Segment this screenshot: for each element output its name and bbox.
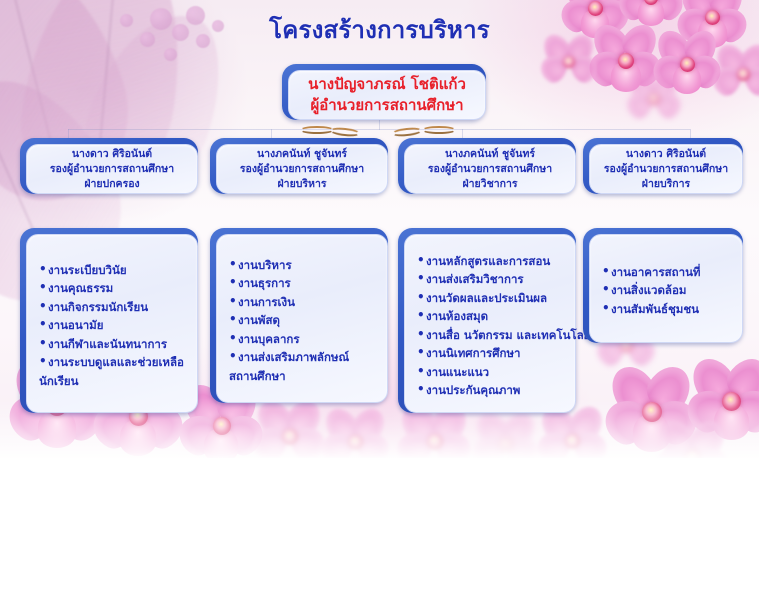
deputy-card-1[interactable]: นางดาว ศิริอนันต์ รองผู้อำนวยการสถานศึกษ…: [20, 138, 198, 194]
card-face: งานอาคารสถานที่ งานสิ่งแวดล้อม งานสัมพัน…: [589, 234, 743, 343]
card-face: งานบริหาร งานธุรการ งานการเงิน งานพัสดุ …: [216, 234, 388, 403]
deputy-department: ฝ่ายบริหาร: [217, 177, 387, 192]
list-item: งานอาคารสถานที่: [602, 263, 732, 282]
list-item: งานสัมพันธ์ชุมชน: [602, 300, 732, 319]
list-item: งานบุคลากร: [229, 330, 377, 349]
list-item: งานธุรการ: [229, 274, 377, 293]
duty-card-1[interactable]: งานระเบียบวินัย งานคุณธรรม งานกิจกรรมนัก…: [20, 228, 198, 413]
list-item-continuation: สถานศึกษา: [229, 367, 377, 386]
card-face: นางดาว ศิริอนันต์ รองผู้อำนวยการสถานศึกษ…: [26, 144, 198, 194]
orchid-flower-icon: [626, 72, 682, 128]
deputy-name: นางดาว ศิริอนันต์: [27, 147, 197, 162]
list-item: งานพัสดุ: [229, 311, 377, 330]
deputy-card-2[interactable]: นางภคนันท์ ชูจันทร์ รองผู้อำนวยการสถานศึ…: [210, 138, 388, 194]
list-item: งานนิเทศการศึกษา: [417, 344, 565, 363]
list-item: งานส่งเสริมภาพลักษณ์: [229, 348, 377, 367]
card-face: นางภคนันท์ ชูจันทร์ รองผู้อำนวยการสถานศึ…: [216, 144, 388, 194]
director-position: ผู้อำนวยการสถานศึกษา: [310, 95, 463, 116]
list-item: งานการเงิน: [229, 293, 377, 312]
duty-card-4[interactable]: งานอาคารสถานที่ งานสิ่งแวดล้อม งานสัมพัน…: [583, 228, 743, 343]
card-face: นางภคนันท์ ชูจันทร์ รองผู้อำนวยการสถานศึ…: [404, 144, 576, 194]
list-item: งานห้องสมุด: [417, 307, 565, 326]
list-item: งานส่งเสริมวิชาการ: [417, 270, 565, 289]
list-item-continuation: นักเรียน: [39, 372, 187, 391]
list-item: งานกิจกรรมนักเรียน: [39, 298, 187, 317]
deputy-department: ฝ่ายบริการ: [590, 177, 742, 192]
director-card[interactable]: นางปัญจาภรณ์ โชติแก้ว ผู้อำนวยการสถานศึก…: [282, 64, 486, 120]
deputy-name: นางดาว ศิริอนันต์: [590, 147, 742, 162]
deputy-position: รองผู้อำนวยการสถานศึกษา: [217, 162, 387, 177]
duty-card-2[interactable]: งานบริหาร งานธุรการ งานการเงิน งานพัสดุ …: [210, 228, 388, 403]
card-face: งานระเบียบวินัย งานคุณธรรม งานกิจกรรมนัก…: [26, 234, 198, 413]
list-item: งานคุณธรรม: [39, 279, 187, 298]
card-face: นางดาว ศิริอนันต์ รองผู้อำนวยการสถานศึกษ…: [589, 144, 743, 194]
list-item: งานแนะแนว: [417, 363, 565, 382]
deputy-position: รองผู้อำนวยการสถานศึกษา: [27, 162, 197, 177]
duty-card-3[interactable]: งานหลักสูตรและการสอน งานส่งเสริมวิชาการ …: [398, 228, 576, 413]
list-item: งานอนามัย: [39, 316, 187, 335]
list-item: งานวัดผลและประเมินผล: [417, 289, 565, 308]
deputy-card-3[interactable]: นางภคนันท์ ชูจันทร์ รองผู้อำนวยการสถานศึ…: [398, 138, 576, 194]
deputy-card-4[interactable]: นางดาว ศิริอนันต์ รองผู้อำนวยการสถานศึกษ…: [583, 138, 743, 194]
deputy-position: รองผู้อำนวยการสถานศึกษา: [590, 162, 742, 177]
deputy-name: นางภคนันท์ ชูจันทร์: [217, 147, 387, 162]
list-item: งานบริหาร: [229, 256, 377, 275]
list-item: งานสื่อ นวัตกรรม และเทคโนโลยี: [417, 326, 565, 345]
card-face: นางปัญจาภรณ์ โชติแก้ว ผู้อำนวยการสถานศึก…: [288, 70, 486, 120]
page-title: โครงสร้างการบริหาร: [0, 10, 759, 49]
list-item: งานสิ่งแวดล้อม: [602, 281, 732, 300]
card-face: งานหลักสูตรและการสอน งานส่งเสริมวิชาการ …: [404, 234, 576, 413]
deputy-department: ฝ่ายปกครอง: [27, 177, 197, 192]
orchid-flower-icon: [712, 44, 759, 106]
berry-icon: [164, 48, 177, 61]
deputy-position: รองผู้อำนวยการสถานศึกษา: [405, 162, 575, 177]
list-item: งานประกันคุณภาพ: [417, 381, 565, 400]
list-item: งานระเบียบวินัย: [39, 261, 187, 280]
list-item: งานกีฬาและนันทนาการ: [39, 335, 187, 354]
list-item: งานหลักสูตรและการสอน: [417, 252, 565, 271]
list-item: งานระบบดูแลและช่วยเหลือ: [39, 353, 187, 372]
deputy-department: ฝ่ายวิชาการ: [405, 177, 575, 192]
director-name: นางปัญจาภรณ์ โชติแก้ว: [308, 74, 466, 95]
org-chart-page: โครงสร้างการบริหาร นางปัญจาภรณ์ โชติแก้ว…: [0, 0, 759, 610]
deputy-name: นางภคนันท์ ชูจันทร์: [405, 147, 575, 162]
